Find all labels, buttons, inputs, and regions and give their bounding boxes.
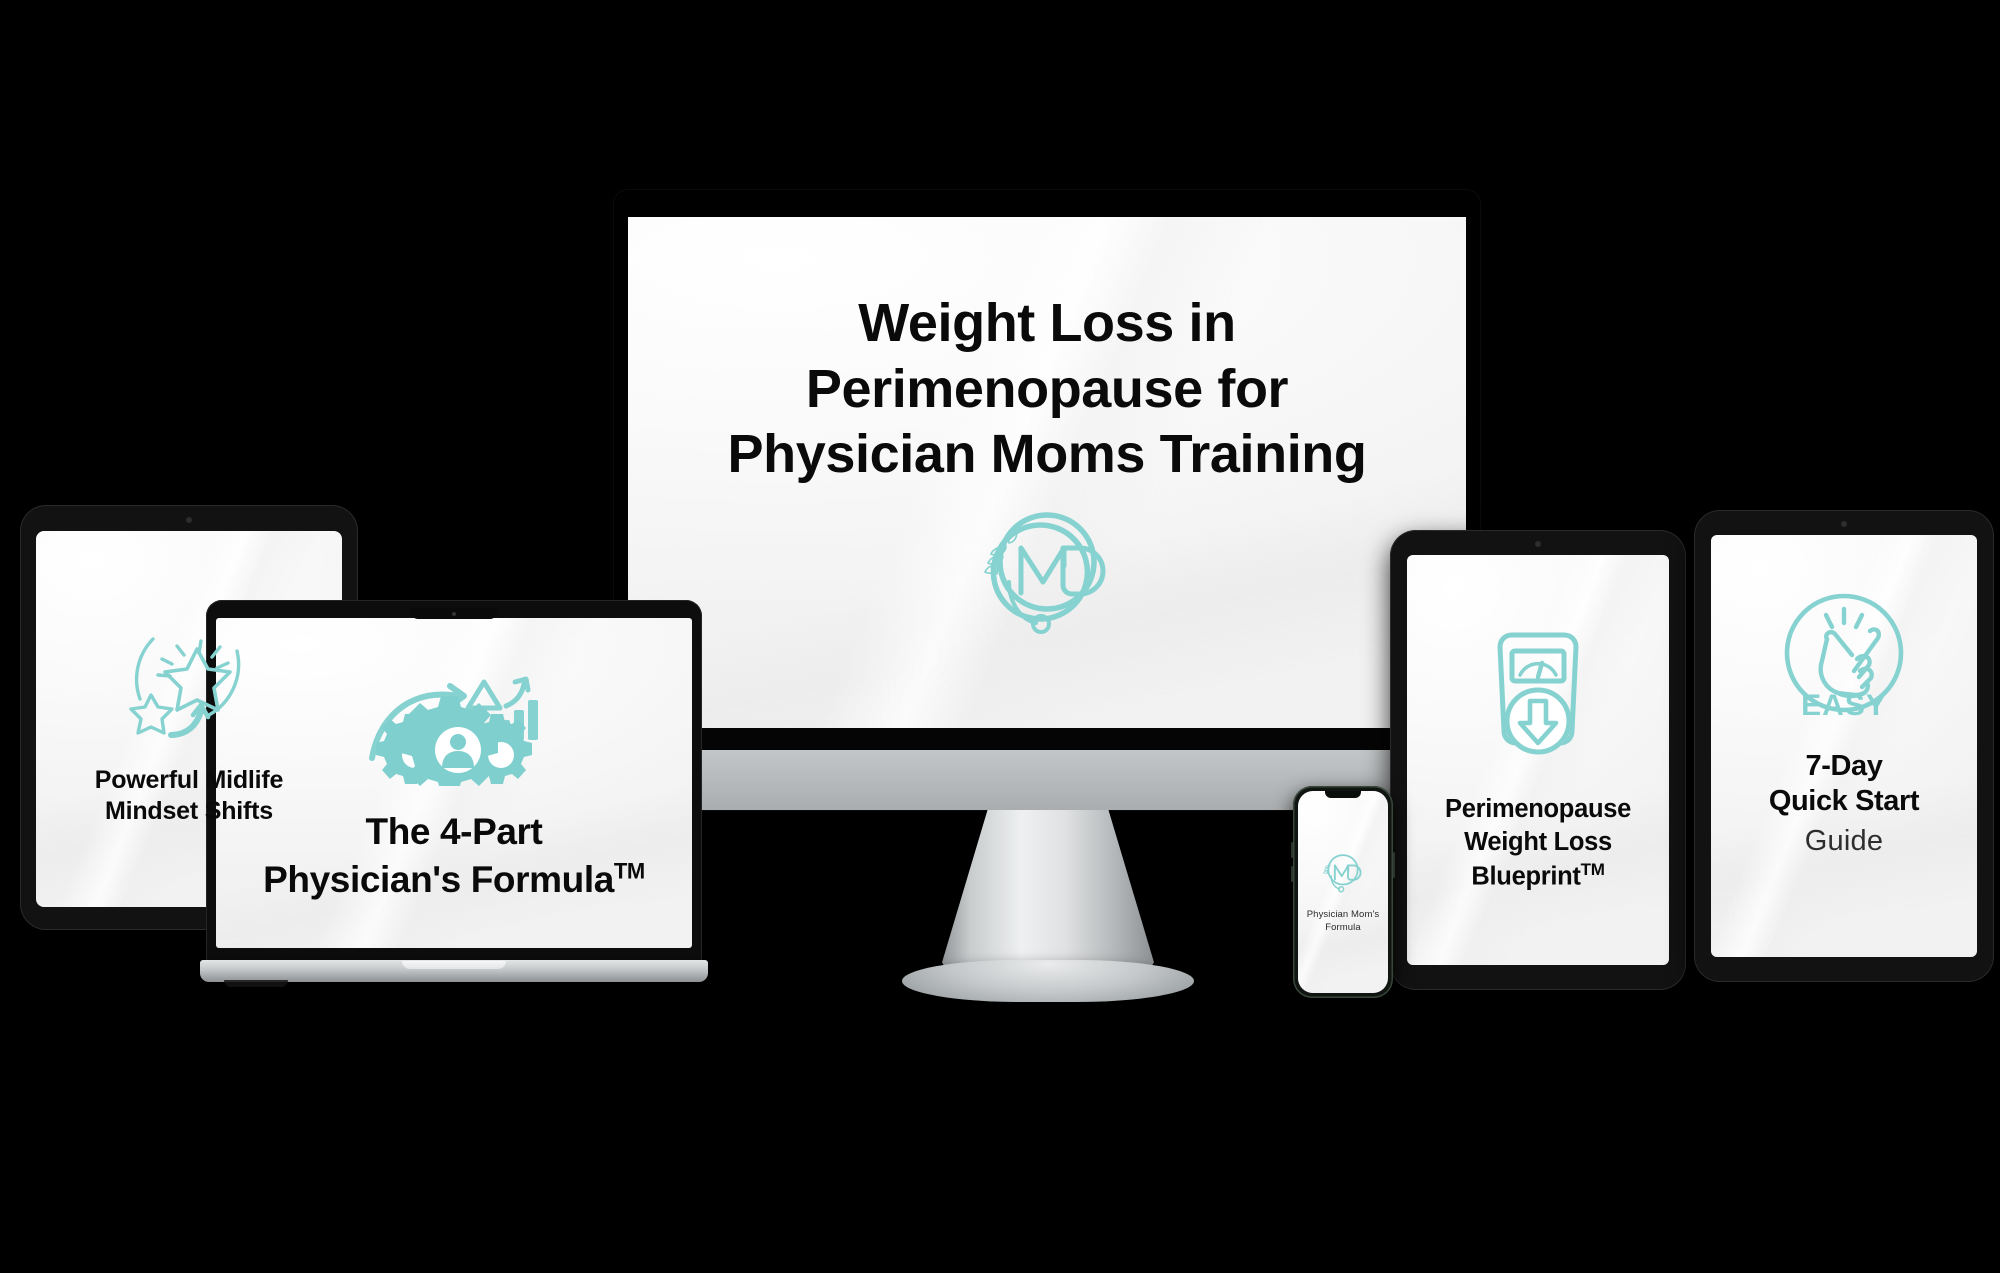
laptop-camera-notch [411,608,497,619]
laptop-foot [224,980,288,987]
snapping-fingers-easy-icon: EASY [1774,587,1914,735]
svg-text:EASY: EASY [1801,689,1887,722]
weight-scale-down-arrow-icon [1476,627,1600,767]
quickstart-title-line2: Quick Start [1769,785,1919,817]
laptop-title-line1: The 4-Part [366,811,543,852]
phone-notch [1325,791,1361,798]
md-stethoscope-logo [1317,849,1369,895]
laptop-title: The 4-Part Physician's FormulaTM [263,808,645,904]
front-camera-icon [1534,540,1542,548]
tablet-blueprint-mockup: Perimenopause Weight Loss BlueprintTM [1390,530,1686,990]
phone-power-button[interactable] [1393,852,1395,878]
phone-title-line1: Physician Mom's [1307,909,1379,920]
blueprint-title-line2: Weight Loss [1464,828,1612,856]
phone-title: Physician Mom's Formula [1307,909,1379,935]
laptop-title-line2: Physician's Formula [263,859,614,900]
tablet-blueprint-screen: Perimenopause Weight Loss BlueprintTM [1407,555,1669,965]
tablet-quickstart-mockup: EASY 7-Day Quick Start Guide [1694,510,1994,982]
smartphone-mockup: Physician Mom's Formula [1293,786,1393,998]
phone-volume-up-button[interactable] [1291,842,1293,858]
tablet-quickstart-screen: EASY 7-Day Quick Start Guide [1711,535,1977,957]
laptop-base [200,960,708,982]
trademark-symbol: TM [614,859,645,884]
desktop-monitor-mockup: Weight Loss in Perimenopause for Physici… [614,190,1480,810]
tablet-quickstart-subtitle: Guide [1805,825,1883,858]
blueprint-title-line3: Blueprint [1471,862,1580,890]
monitor-lower-bezel [628,728,1466,750]
phone-volume-down-button[interactable] [1291,866,1293,882]
quickstart-title-line1: 7-Day [1805,750,1882,782]
front-camera-icon [1840,520,1848,528]
monitor-screen: Weight Loss in Perimenopause for Physici… [628,217,1466,728]
phone-screen: Physician Mom's Formula [1298,791,1388,993]
sparkle-stars-icon [113,611,265,751]
device-mockup-stage: Weight Loss in Perimenopause for Physici… [0,0,2000,1273]
md-stethoscope-logo [964,502,1130,636]
blueprint-title-line1: Perimenopause [1445,795,1631,823]
gears-person-growth-icon [354,662,554,786]
phone-title-line2: Formula [1325,922,1361,933]
monitor-stand-base [902,960,1194,1002]
tablet-quickstart-title: 7-Day Quick Start [1769,749,1919,820]
front-camera-icon [185,516,193,524]
monitor-headline: Weight Loss in Perimenopause for Physici… [717,291,1377,489]
trademark-symbol: TM [1581,860,1605,879]
tablet-blueprint-title: Perimenopause Weight Loss BlueprintTM [1445,793,1631,894]
